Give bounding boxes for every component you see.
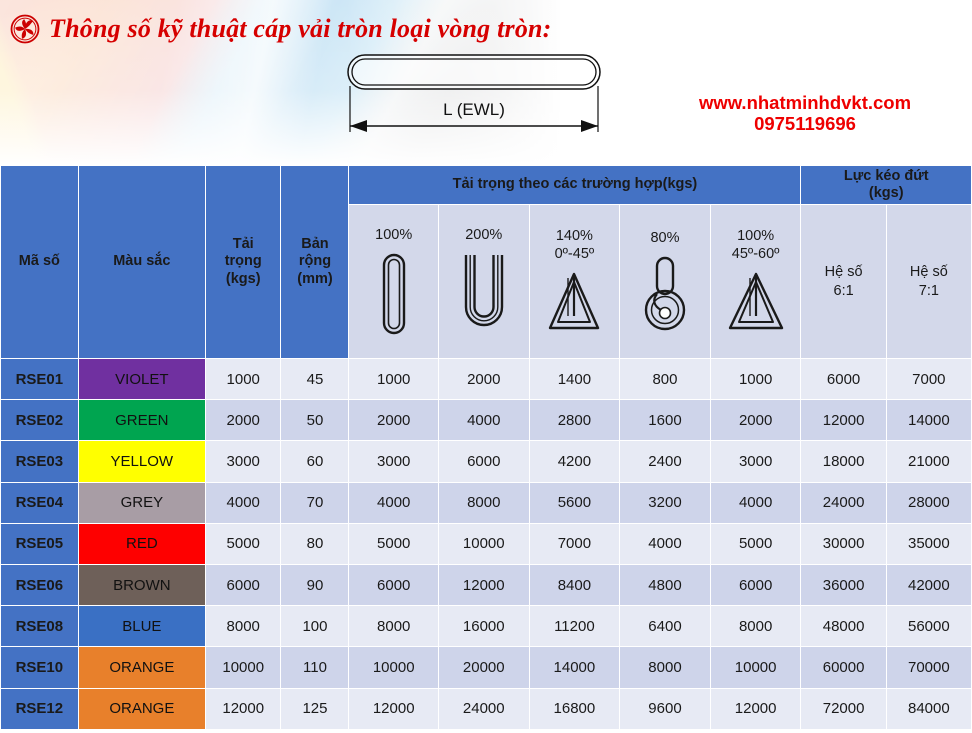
pinwheel-icon <box>10 14 40 44</box>
cell-load: 2000 <box>205 400 281 441</box>
subheader-factor-7-1-line1: Hệ số <box>887 263 971 282</box>
spec-sheet-page: Thông số kỹ thuật cáp vải tròn loại vòng… <box>0 0 972 733</box>
contact-website: www.nhatminhdvkt.com <box>640 92 970 113</box>
cell-load-80: 2400 <box>620 441 711 482</box>
table-body: RSE01VIOLET10004510002000140080010006000… <box>1 359 972 730</box>
cell-load-200: 16000 <box>438 606 529 647</box>
cell-break-7-1: 21000 <box>886 441 971 482</box>
subheader-factor-6-1-line1: Hệ số <box>801 263 885 282</box>
cell-break-6-1: 30000 <box>801 523 886 564</box>
cell-load-140: 7000 <box>529 523 620 564</box>
cell-load: 1000 <box>205 359 281 400</box>
cell-load-200: 20000 <box>438 647 529 688</box>
cell-color-swatch: GREY <box>78 482 205 523</box>
subheader-factor-7-1: Hệ số 7:1 <box>886 205 971 359</box>
cell-code: RSE05 <box>1 523 79 564</box>
subheader-80-choker: 80% <box>620 205 711 359</box>
col-header-width-line2: rộng <box>281 253 348 270</box>
cell-load: 10000 <box>205 647 281 688</box>
cell-break-7-1: 28000 <box>886 482 971 523</box>
cell-code: RSE02 <box>1 400 79 441</box>
cell-break-7-1: 35000 <box>886 523 971 564</box>
subheader-100-two-leg-wide-pct: 100% <box>711 227 801 245</box>
table-row: RSE05RED50008050001000070004000500030000… <box>1 523 972 564</box>
cell-load-100: 12000 <box>349 688 439 729</box>
header-row-group: Mã số Màu sắc Tải trọng (kgs) Bản rộng (… <box>1 166 972 205</box>
table-row: RSE01VIOLET10004510002000140080010006000… <box>1 359 972 400</box>
cell-code: RSE06 <box>1 564 79 605</box>
cell-load-140: 2800 <box>529 400 620 441</box>
cell-load-100b: 10000 <box>710 647 801 688</box>
subheader-factor-7-1-line2: 7:1 <box>887 282 971 301</box>
cell-color-swatch: GREEN <box>78 400 205 441</box>
cell-width: 90 <box>281 564 349 605</box>
cell-load-80: 1600 <box>620 400 711 441</box>
cell-load-100: 10000 <box>349 647 439 688</box>
table-row: RSE06BROWN600090600012000840048006000360… <box>1 564 972 605</box>
cell-load-80: 6400 <box>620 606 711 647</box>
cell-load-100: 6000 <box>349 564 439 605</box>
table-row: RSE10ORANGE10000110100002000014000800010… <box>1 647 972 688</box>
sling-dimension-diagram: L (EWL) <box>337 52 622 144</box>
cell-load-100: 1000 <box>349 359 439 400</box>
cell-load-200: 10000 <box>438 523 529 564</box>
sling-choker-2leg-icon <box>543 270 605 336</box>
cell-load-100: 2000 <box>349 400 439 441</box>
cell-break-7-1: 56000 <box>886 606 971 647</box>
sling-basket-icon <box>458 251 510 337</box>
subheader-200-basket: 200% <box>438 205 529 359</box>
cell-load-100b: 12000 <box>710 688 801 729</box>
cell-load-200: 8000 <box>438 482 529 523</box>
subheader-140-two-leg-angle: 0º-45º <box>530 245 620 263</box>
cell-load-100b: 4000 <box>710 482 801 523</box>
col-header-color: Màu sắc <box>78 166 205 359</box>
group-header-breaking-force-line2: (kgs) <box>801 185 971 202</box>
cell-load: 5000 <box>205 523 281 564</box>
cell-load-80: 8000 <box>620 647 711 688</box>
cell-code: RSE10 <box>1 647 79 688</box>
cell-load-100b: 2000 <box>710 400 801 441</box>
group-header-breaking-force-line1: Lực kéo đứt <box>801 168 971 185</box>
cell-width: 125 <box>281 688 349 729</box>
subheader-100-straight: 100% <box>349 205 439 359</box>
cell-color-swatch: ORANGE <box>78 647 205 688</box>
col-header-code: Mã số <box>1 166 79 359</box>
cell-width: 70 <box>281 482 349 523</box>
cell-load: 3000 <box>205 441 281 482</box>
sling-choker-2leg-wide-icon <box>725 270 787 336</box>
cell-load-140: 1400 <box>529 359 620 400</box>
cell-load-140: 4200 <box>529 441 620 482</box>
cell-color-swatch: ORANGE <box>78 688 205 729</box>
cell-load-140: 14000 <box>529 647 620 688</box>
cell-load-80: 800 <box>620 359 711 400</box>
cell-load-100: 8000 <box>349 606 439 647</box>
cell-color-swatch: RED <box>78 523 205 564</box>
table-row: RSE02GREEN200050200040002800160020001200… <box>1 400 972 441</box>
diagram-label: L (EWL) <box>443 100 505 119</box>
sling-straight-icon <box>371 251 417 337</box>
subheader-100-straight-pct: 100% <box>349 226 438 244</box>
cell-width: 110 <box>281 647 349 688</box>
cell-color-swatch: BLUE <box>78 606 205 647</box>
cell-code: RSE04 <box>1 482 79 523</box>
subheader-140-two-leg: 140% 0º-45º <box>529 205 620 359</box>
cell-width: 45 <box>281 359 349 400</box>
cell-break-6-1: 72000 <box>801 688 886 729</box>
cell-load-100b: 6000 <box>710 564 801 605</box>
banner: Thông số kỹ thuật cáp vải tròn loại vòng… <box>0 0 972 165</box>
col-header-load-line1: Tải <box>206 236 281 253</box>
cell-break-7-1: 70000 <box>886 647 971 688</box>
cell-color-swatch: BROWN <box>78 564 205 605</box>
col-header-width-line1: Bản <box>281 236 348 253</box>
subheader-200-basket-pct: 200% <box>439 226 529 244</box>
table-row: RSE04GREY4000704000800056003200400024000… <box>1 482 972 523</box>
subheader-80-choker-pct: 80% <box>620 229 710 247</box>
cell-break-6-1: 24000 <box>801 482 886 523</box>
sling-choker-icon <box>640 254 690 334</box>
cell-load-100: 3000 <box>349 441 439 482</box>
cell-load-100b: 1000 <box>710 359 801 400</box>
cell-load-80: 4800 <box>620 564 711 605</box>
col-header-load-line2: trọng <box>206 253 281 270</box>
cell-load-100: 4000 <box>349 482 439 523</box>
subheader-100-two-leg-wide-angle: 45º-60º <box>711 245 801 263</box>
cell-load: 8000 <box>205 606 281 647</box>
title-row: Thông số kỹ thuật cáp vải tròn loại vòng… <box>10 14 552 44</box>
subheader-100-two-leg-wide: 100% 45º-60º <box>710 205 801 359</box>
cell-load-100b: 3000 <box>710 441 801 482</box>
table-row: RSE12ORANGE12000125120002400016800960012… <box>1 688 972 729</box>
cell-load-200: 12000 <box>438 564 529 605</box>
cell-break-6-1: 48000 <box>801 606 886 647</box>
contact-phone: 0975119696 <box>640 113 970 134</box>
cell-load-100b: 5000 <box>710 523 801 564</box>
cell-break-6-1: 36000 <box>801 564 886 605</box>
cell-color-swatch: YELLOW <box>78 441 205 482</box>
cell-load-200: 2000 <box>438 359 529 400</box>
cell-break-7-1: 42000 <box>886 564 971 605</box>
col-header-width: Bản rộng (mm) <box>281 166 349 359</box>
cell-width: 60 <box>281 441 349 482</box>
col-header-load-line3: (kgs) <box>206 271 281 288</box>
subheader-factor-6-1: Hệ số 6:1 <box>801 205 886 359</box>
cell-load-200: 4000 <box>438 400 529 441</box>
contact-info: www.nhatminhdvkt.com 0975119696 <box>640 92 970 135</box>
group-header-breaking-force: Lực kéo đứt (kgs) <box>801 166 972 205</box>
group-header-load-cases: Tải trọng theo các trường hợp(kgs) <box>349 166 801 205</box>
cell-width: 50 <box>281 400 349 441</box>
cell-color-swatch: VIOLET <box>78 359 205 400</box>
table-row: RSE03YELLOW30006030006000420024003000180… <box>1 441 972 482</box>
table-row: RSE08BLUE8000100800016000112006400800048… <box>1 606 972 647</box>
cell-width: 80 <box>281 523 349 564</box>
cell-break-6-1: 18000 <box>801 441 886 482</box>
cell-break-7-1: 14000 <box>886 400 971 441</box>
cell-load-140: 16800 <box>529 688 620 729</box>
specifications-table: Mã số Màu sắc Tải trọng (kgs) Bản rộng (… <box>0 165 972 730</box>
cell-width: 100 <box>281 606 349 647</box>
cell-load-140: 5600 <box>529 482 620 523</box>
col-header-width-line3: (mm) <box>281 271 348 288</box>
cell-break-6-1: 12000 <box>801 400 886 441</box>
subheader-factor-6-1-line2: 6:1 <box>801 282 885 301</box>
col-header-load: Tải trọng (kgs) <box>205 166 281 359</box>
cell-load: 12000 <box>205 688 281 729</box>
cell-code: RSE01 <box>1 359 79 400</box>
cell-code: RSE03 <box>1 441 79 482</box>
subheader-140-two-leg-pct: 140% <box>530 227 620 245</box>
cell-break-6-1: 60000 <box>801 647 886 688</box>
cell-code: RSE08 <box>1 606 79 647</box>
page-title: Thông số kỹ thuật cáp vải tròn loại vòng… <box>49 14 552 44</box>
cell-load-140: 8400 <box>529 564 620 605</box>
cell-load-80: 4000 <box>620 523 711 564</box>
cell-load: 6000 <box>205 564 281 605</box>
cell-code: RSE12 <box>1 688 79 729</box>
cell-load: 4000 <box>205 482 281 523</box>
cell-break-6-1: 6000 <box>801 359 886 400</box>
cell-load-80: 9600 <box>620 688 711 729</box>
cell-load-200: 24000 <box>438 688 529 729</box>
cell-break-7-1: 7000 <box>886 359 971 400</box>
cell-load-100b: 8000 <box>710 606 801 647</box>
cell-load-80: 3200 <box>620 482 711 523</box>
cell-load-200: 6000 <box>438 441 529 482</box>
cell-load-100: 5000 <box>349 523 439 564</box>
cell-break-7-1: 84000 <box>886 688 971 729</box>
cell-load-140: 11200 <box>529 606 620 647</box>
